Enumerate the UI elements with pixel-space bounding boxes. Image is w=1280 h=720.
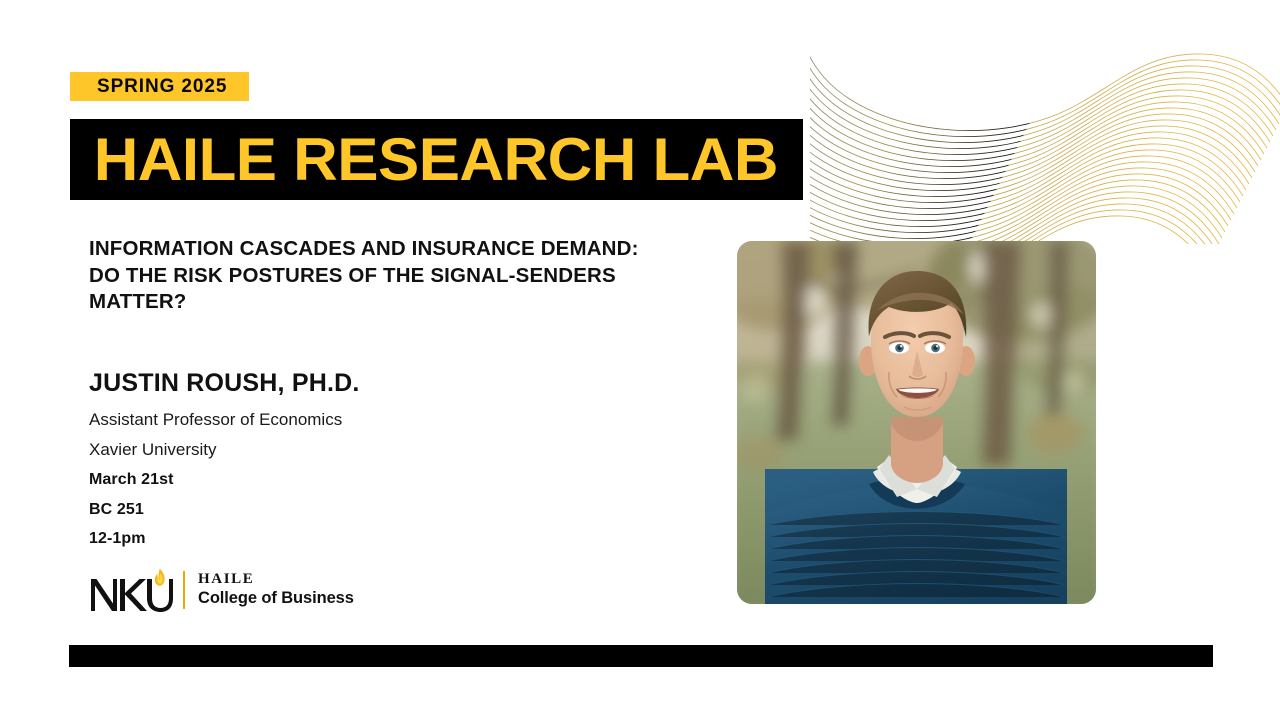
page-title: HAILE RESEARCH LAB: [70, 130, 778, 190]
flame-icon: [155, 569, 165, 586]
logo-unit-name: HAILE: [198, 571, 354, 588]
speaker-position: Assistant Professor of Economics: [89, 405, 689, 435]
event-time: 12-1pm: [89, 524, 689, 554]
season-badge: SPRING 2025: [70, 72, 249, 101]
event-room: BC 251: [89, 495, 689, 525]
footer-bar: [69, 645, 1213, 667]
speaker-block: JUSTIN ROUSH, PH.D. Assistant Professor …: [89, 369, 689, 554]
event-date: March 21st: [89, 465, 689, 495]
logo-college-name: College of Business: [198, 589, 354, 609]
flyer-slide: SPRING 2025 HAILE RESEARCH LAB INFORMATI…: [0, 0, 1280, 720]
header-title-bar: HAILE RESEARCH LAB: [70, 119, 803, 200]
logo-text: HAILE College of Business: [198, 571, 354, 609]
content-column: INFORMATION CASCADES AND INSURANCE DEMAN…: [89, 236, 689, 554]
talk-title: INFORMATION CASCADES AND INSURANCE DEMAN…: [89, 236, 669, 316]
nku-haile-logo: HAILE College of Business: [89, 566, 354, 614]
logo-divider: [183, 571, 185, 609]
speaker-name: JUSTIN ROUSH, PH.D.: [89, 369, 689, 398]
nku-wordmark: [89, 567, 175, 613]
contour-wave-lines-decoration: [810, 0, 1280, 244]
speaker-affiliation: Xavier University: [89, 435, 689, 465]
speaker-photo: [737, 241, 1096, 604]
